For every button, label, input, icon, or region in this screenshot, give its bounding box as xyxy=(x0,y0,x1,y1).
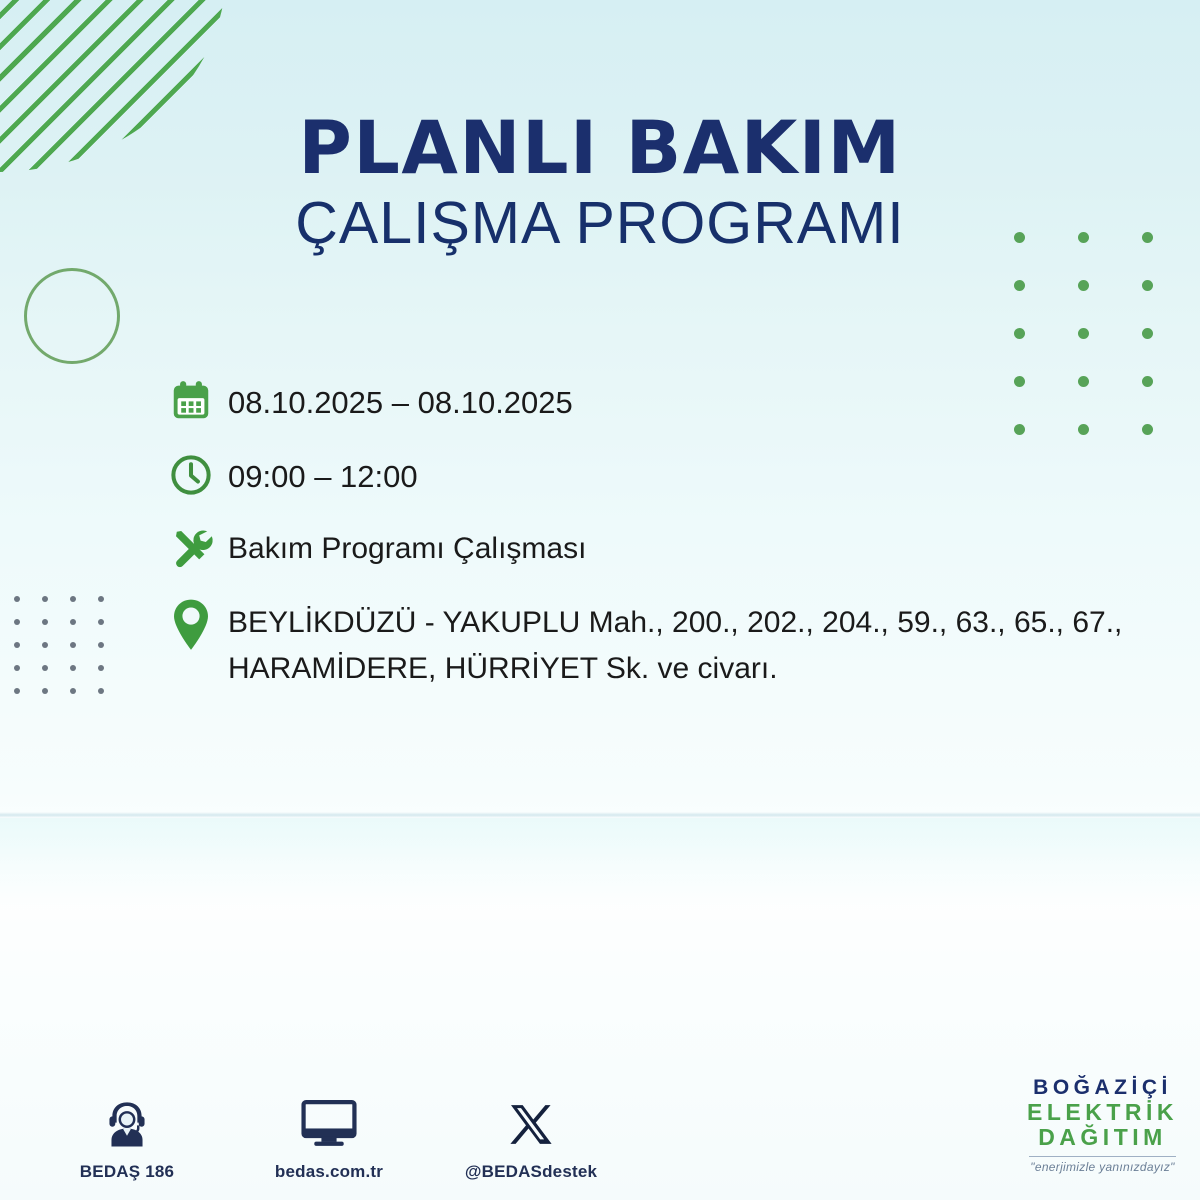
info-row-location: BEYLİKDÜZÜ - YAKUPLU Mah., 200., 202., 2… xyxy=(168,597,1168,692)
dot xyxy=(1142,328,1153,339)
calendar-icon xyxy=(168,378,228,424)
page-title: PLANLI BAKIM xyxy=(0,112,1200,185)
info-row-work: Bakım Programı Çalışması xyxy=(168,525,1168,573)
tools-icon xyxy=(168,525,228,573)
dot xyxy=(14,665,20,671)
clock-icon xyxy=(168,452,228,498)
info-row-date: 08.10.2025 – 08.10.2025 xyxy=(168,378,1168,425)
company-logo: BOĞAZİÇİ ELEKTRİK DAĞITIM "enerjimizle y… xyxy=(1027,1076,1178,1174)
info-row-time: 09:00 – 12:00 xyxy=(168,452,1168,499)
dot xyxy=(98,665,104,671)
dot xyxy=(98,619,104,625)
contact-website[interactable]: bedas.com.tr xyxy=(254,1089,404,1182)
horizontal-seam-decoration xyxy=(0,812,1200,818)
dot xyxy=(14,619,20,625)
dot xyxy=(42,642,48,648)
page-title-block: PLANLI BAKIM ÇALIŞMA PROGRAMI xyxy=(0,112,1200,253)
dot xyxy=(98,642,104,648)
dot xyxy=(70,642,76,648)
dot xyxy=(98,688,104,694)
dot xyxy=(14,596,20,602)
dot xyxy=(1014,280,1025,291)
contact-phone-label: BEDAŞ 186 xyxy=(80,1162,174,1182)
dot xyxy=(70,596,76,602)
contact-list: BEDAŞ 186 bedas.com.tr xyxy=(52,1089,606,1182)
info-list: 08.10.2025 – 08.10.2025 09:00 – 12:00 xyxy=(168,378,1168,714)
dot xyxy=(14,688,20,694)
dot xyxy=(42,665,48,671)
contact-x-label: @BEDASdestek xyxy=(465,1162,597,1182)
dot-grid-left-decoration xyxy=(14,596,126,711)
dot xyxy=(14,642,20,648)
monitor-icon xyxy=(300,1089,358,1151)
circle-outline-decoration xyxy=(24,268,120,364)
dot xyxy=(1142,280,1153,291)
x-twitter-icon xyxy=(506,1089,556,1151)
info-row-time-label: 09:00 – 12:00 xyxy=(228,452,418,499)
info-row-work-label: Bakım Programı Çalışması xyxy=(228,525,586,571)
map-pin-icon xyxy=(168,597,228,653)
info-row-date-label: 08.10.2025 – 08.10.2025 xyxy=(228,378,573,425)
logo-tagline: "enerjimizle yanınızdayız" xyxy=(1027,1160,1178,1174)
logo-line-elektrik: ELEKTRİK xyxy=(1027,1100,1178,1126)
logo-divider xyxy=(1029,1156,1176,1157)
dot xyxy=(42,688,48,694)
contact-x[interactable]: @BEDASdestek xyxy=(456,1089,606,1182)
contact-website-label: bedas.com.tr xyxy=(275,1162,383,1182)
headset-operator-icon xyxy=(100,1089,154,1151)
dot xyxy=(70,665,76,671)
dot xyxy=(42,619,48,625)
footer: BEDAŞ 186 bedas.com.tr xyxy=(0,1040,1200,1200)
dot xyxy=(70,619,76,625)
logo-line-dagitim: DAĞITIM xyxy=(1027,1125,1178,1151)
dot xyxy=(1078,280,1089,291)
contact-phone[interactable]: BEDAŞ 186 xyxy=(52,1089,202,1182)
dot xyxy=(42,596,48,602)
dot xyxy=(70,688,76,694)
poster-canvas: PLANLI BAKIM ÇALIŞMA PROGRAMI 08 xyxy=(0,0,1200,1200)
info-row-location-label: BEYLİKDÜZÜ - YAKUPLU Mah., 200., 202., 2… xyxy=(228,597,1168,692)
horizontal-fade-decoration xyxy=(0,818,1200,908)
dot xyxy=(1078,328,1089,339)
dot xyxy=(1014,328,1025,339)
logo-line-bogazici: BOĞAZİÇİ xyxy=(1027,1076,1178,1100)
dot xyxy=(98,596,104,602)
page-subtitle: ÇALIŞMA PROGRAMI xyxy=(0,194,1200,253)
